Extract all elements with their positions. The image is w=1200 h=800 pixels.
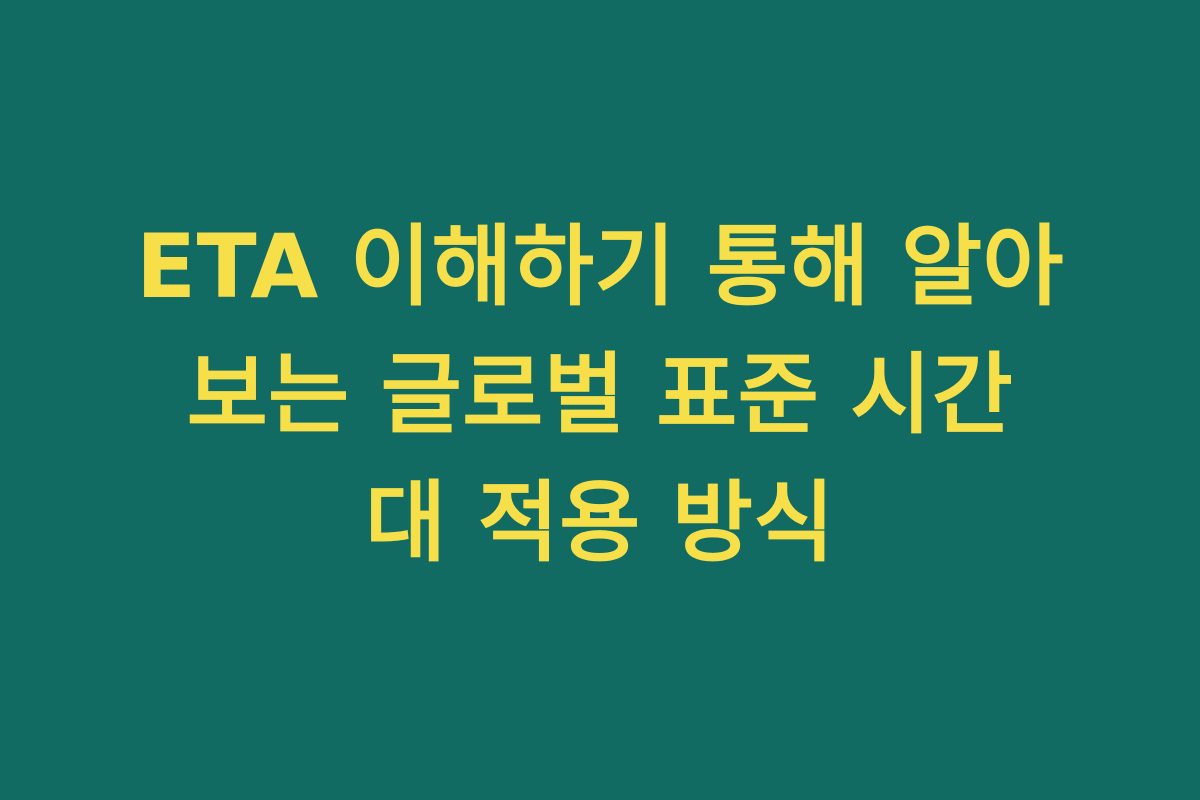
page-title: ETA 이해하기 통해 알아 보는 글로벌 표준 시간 대 적용 방식 — [70, 203, 1130, 587]
title-line-1: ETA 이해하기 통해 알아 — [70, 203, 1130, 331]
title-line-3: 대 적용 방식 — [70, 459, 1130, 587]
title-card: ETA 이해하기 통해 알아 보는 글로벌 표준 시간 대 적용 방식 — [0, 0, 1200, 800]
title-line-2: 보는 글로벌 표준 시간 — [70, 331, 1130, 459]
